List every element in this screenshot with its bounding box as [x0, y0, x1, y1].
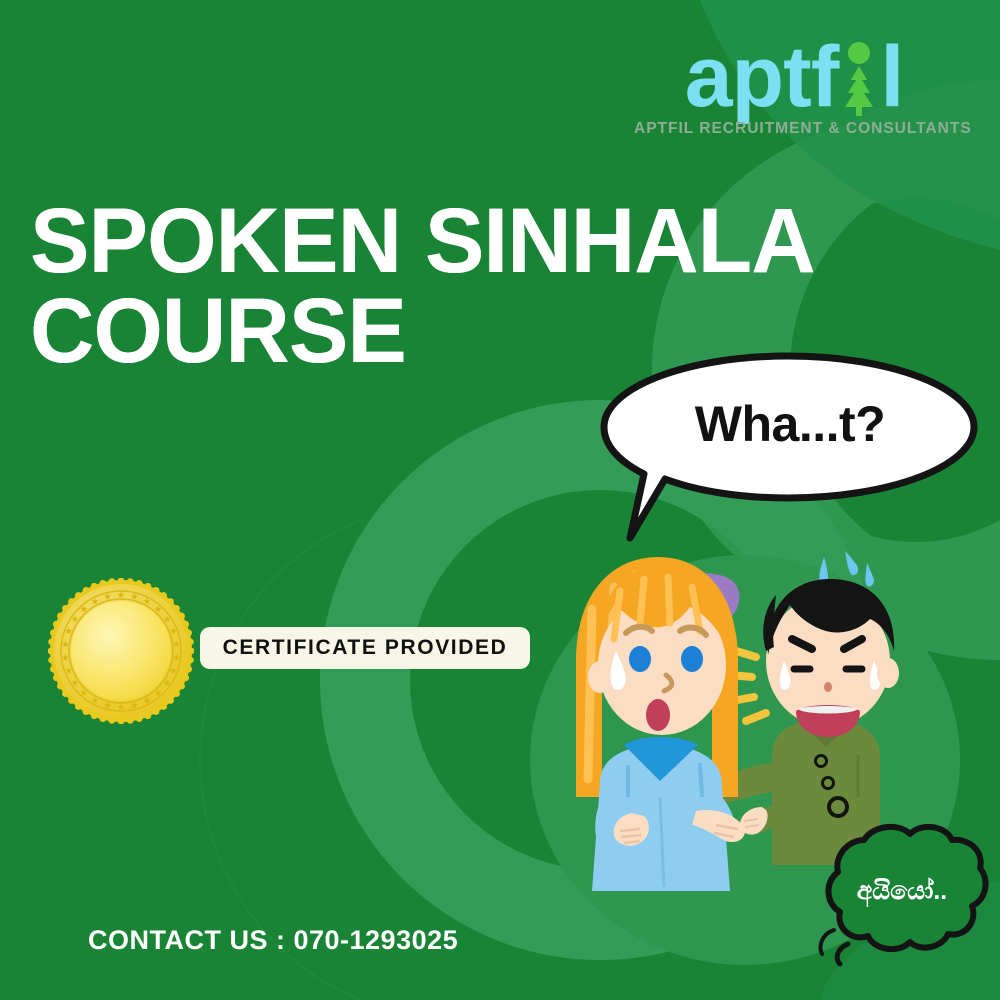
certificate-badge-label: CERTIFICATE PROVIDED [223, 636, 508, 660]
woman-character [576, 557, 745, 891]
logo-dot-icon [848, 42, 870, 64]
page-title: SPOKEN SINHALA COURSE [30, 196, 815, 376]
thought-cloud-text: අයියෝ.. [812, 818, 992, 964]
contact-info: CONTACT US : 070-1293025 [88, 925, 458, 956]
thought-cloud: අයියෝ.. [812, 818, 992, 968]
pine-tree-icon [840, 64, 878, 118]
logo-tagline: APTFIL RECRUITMENT & CONSULTANTS [634, 120, 954, 138]
woman-eye-left [629, 646, 651, 672]
poster-canvas: aptf l APTFIL RECRUITMENT & CONSULTANTS … [0, 0, 1000, 1000]
logo-wordmark: aptf l [634, 38, 954, 116]
certificate-provided-badge: CERTIFICATE PROVIDED [200, 627, 530, 669]
logo-word-first: aptf [685, 39, 839, 116]
gold-medal-seal-icon [48, 578, 194, 724]
brand-logo: aptf l APTFIL RECRUITMENT & CONSULTANTS [634, 38, 954, 138]
logo-i-letter [838, 38, 880, 116]
speech-bubble: Wha...t? [600, 352, 980, 502]
speech-bubble-text: Wha...t? [600, 352, 980, 500]
headline-line-1: SPOKEN SINHALA [30, 190, 815, 292]
woman-mouth [646, 699, 670, 731]
woman-eye-right [681, 646, 703, 672]
logo-word-last: l [880, 39, 903, 116]
